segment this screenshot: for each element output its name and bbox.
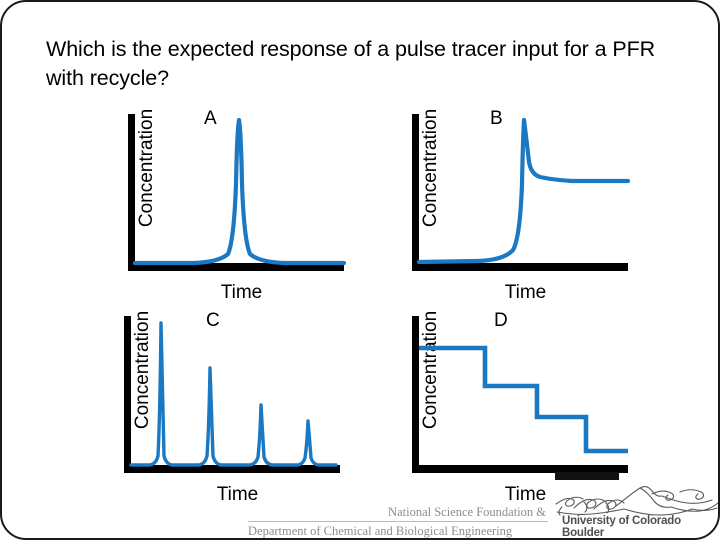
plot-b-curve [419, 120, 628, 262]
plot-b-xaxis [412, 263, 628, 271]
plot-b: Concentration B Time [390, 110, 650, 305]
plot-b-xlabel: Time [418, 282, 633, 304]
plot-d-curve [419, 348, 628, 451]
plot-a-graphic [124, 114, 348, 282]
plot-d-yaxis [412, 316, 419, 472]
plot-c-yaxis [124, 316, 131, 472]
plot-b-graphic [408, 114, 632, 282]
question-text: Which is the expected response of a puls… [46, 35, 686, 93]
footer-nsf-text: National Science Foundation & [248, 505, 548, 522]
plot-b-yaxis [412, 114, 419, 270]
plot-c-curve [131, 323, 336, 465]
footer: National Science Foundation & Department… [248, 505, 548, 539]
plot-a-curve [135, 120, 344, 263]
footer-department-text: Department of Chemical and Biological En… [248, 522, 548, 539]
plot-a-yaxis [128, 114, 135, 270]
plot-d-graphic [408, 316, 632, 484]
plot-c-graphic [120, 316, 344, 484]
plot-a: Concentration A Time [106, 110, 366, 305]
plot-c-xlabel: Time [130, 484, 345, 506]
plot-a-xlabel: Time [134, 282, 349, 304]
cu-boulder-wordmark: University of Colorado Boulder [562, 515, 718, 539]
plot-c: Concentration C Time [102, 312, 362, 507]
slide-canvas: Which is the expected response of a puls… [0, 0, 720, 540]
